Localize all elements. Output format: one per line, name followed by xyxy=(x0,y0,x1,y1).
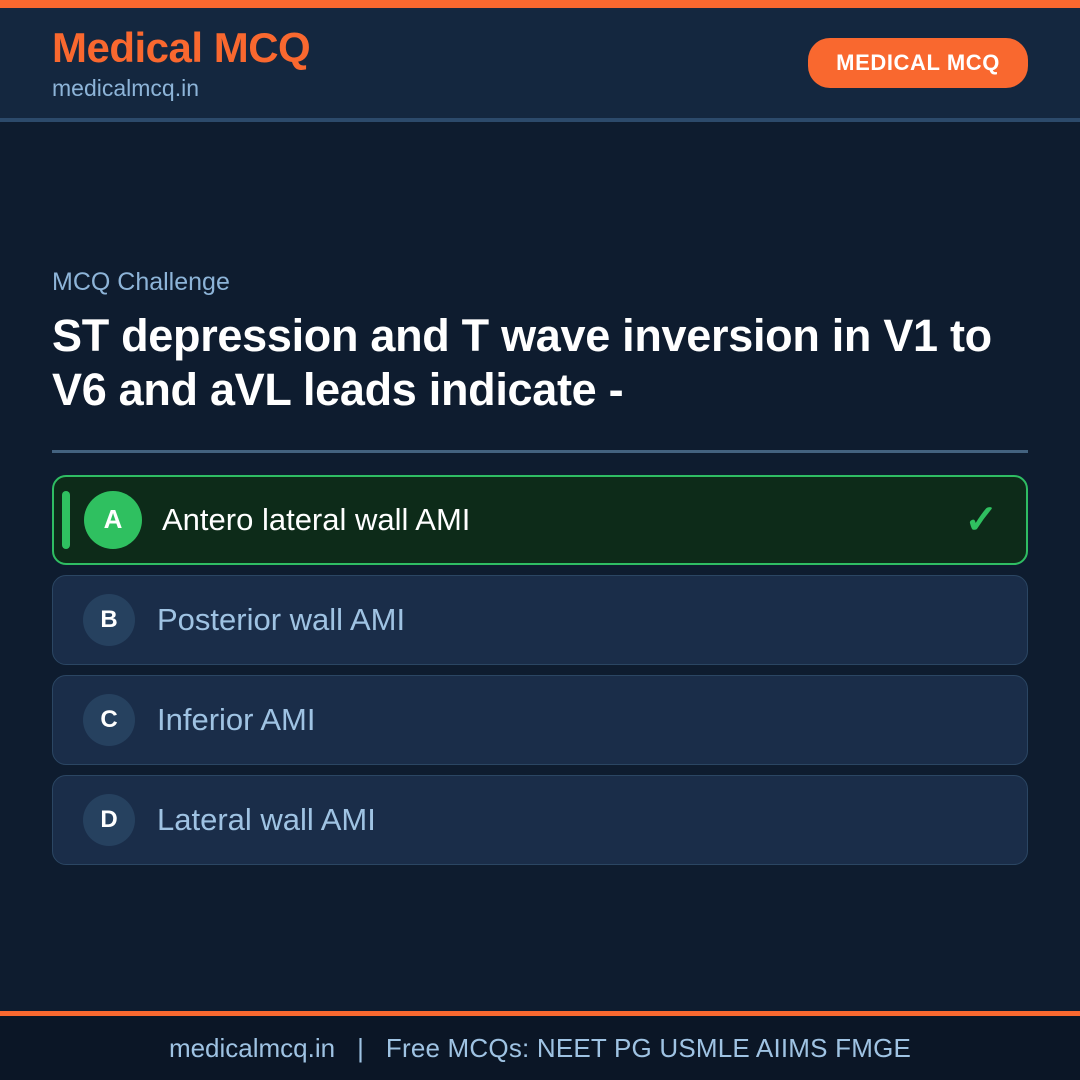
option-d-text: Lateral wall AMI xyxy=(157,803,999,837)
option-b-text: Posterior wall AMI xyxy=(157,603,999,637)
main-content: MCQ Challenge ST depression and T wave i… xyxy=(0,122,1080,1011)
question-text: ST depression and T wave inversion in V1… xyxy=(52,309,1028,415)
divider xyxy=(52,450,1028,453)
footer-site: medicalmcq.in xyxy=(169,1033,335,1064)
option-d-letter: D xyxy=(83,794,135,846)
mcq-card: Medical MCQ medicalmcq.in MEDICAL MCQ MC… xyxy=(0,0,1080,1080)
option-b-letter: B xyxy=(83,594,135,646)
brand-title: Medical MCQ xyxy=(52,27,310,69)
header-badge: MEDICAL MCQ xyxy=(808,38,1028,88)
option-d[interactable]: D Lateral wall AMI xyxy=(52,775,1028,865)
option-a-letter: A xyxy=(84,491,142,549)
options-list: A Antero lateral wall AMI ✓ B Posterior … xyxy=(52,475,1028,865)
footer-separator: | xyxy=(351,1033,370,1064)
top-accent-bar xyxy=(0,0,1080,8)
brand-subtitle: medicalmcq.in xyxy=(52,77,310,100)
kicker-label: MCQ Challenge xyxy=(52,268,1028,297)
header: Medical MCQ medicalmcq.in MEDICAL MCQ xyxy=(0,8,1080,122)
option-c[interactable]: C Inferior AMI xyxy=(52,675,1028,765)
option-a-text: Antero lateral wall AMI xyxy=(162,503,964,537)
option-b[interactable]: B Posterior wall AMI xyxy=(52,575,1028,665)
footer: medicalmcq.in | Free MCQs: NEET PG USMLE… xyxy=(0,1016,1080,1080)
brand: Medical MCQ medicalmcq.in xyxy=(52,27,310,100)
option-a[interactable]: A Antero lateral wall AMI ✓ xyxy=(52,475,1028,565)
footer-exams: Free MCQs: NEET PG USMLE AIIMS FMGE xyxy=(386,1033,911,1064)
correct-accent-bar xyxy=(62,491,70,549)
option-c-letter: C xyxy=(83,694,135,746)
check-icon: ✓ xyxy=(964,500,998,540)
option-c-text: Inferior AMI xyxy=(157,703,999,737)
